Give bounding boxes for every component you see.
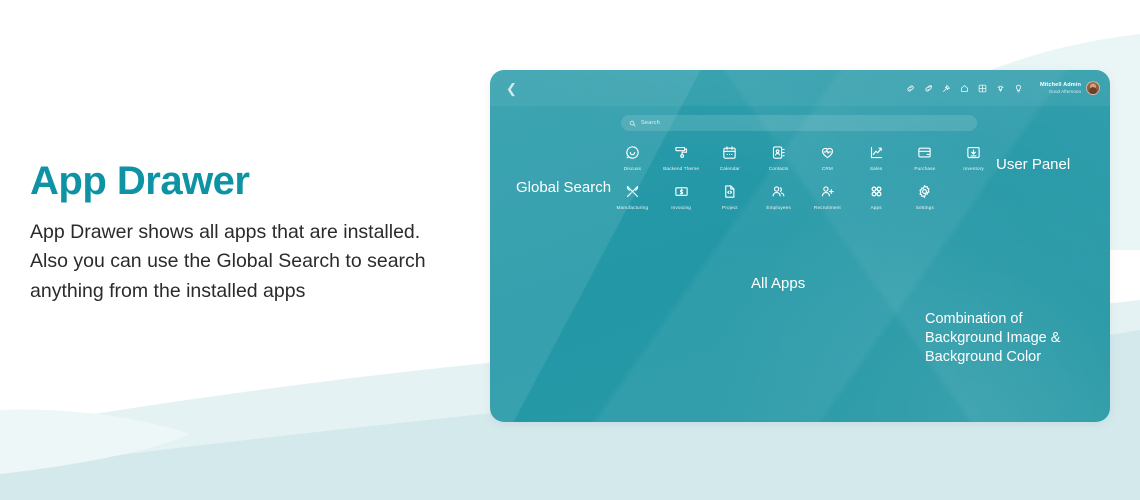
app-label: Calendar bbox=[720, 166, 740, 171]
search-input[interactable]: Search bbox=[621, 115, 977, 131]
heart-pulse-icon bbox=[817, 142, 837, 162]
activity-clock-icon[interactable] bbox=[924, 84, 933, 93]
left-copy-block: App Drawer App Drawer shows all apps tha… bbox=[30, 160, 460, 306]
avatar[interactable] bbox=[1086, 81, 1100, 95]
gear-icon bbox=[915, 181, 935, 201]
people-icon bbox=[769, 181, 789, 201]
app-label: Employees bbox=[766, 205, 791, 210]
annotation-combination-line-3: Background Color bbox=[925, 348, 1060, 367]
four-dots-icon bbox=[866, 181, 886, 201]
annotation-combination: Combination of Background Image & Backgr… bbox=[925, 310, 1060, 367]
app-tile-invoicing[interactable]: Invoicing bbox=[657, 181, 706, 210]
annotation-combination-line-2: Background Image & bbox=[925, 329, 1060, 348]
tools-icon bbox=[622, 181, 642, 201]
search-icon bbox=[629, 120, 636, 127]
search-placeholder: Search bbox=[641, 120, 660, 126]
app-label: Manufacturing bbox=[617, 205, 649, 210]
app-tile-contacts[interactable]: Contacts bbox=[754, 142, 803, 171]
page-title: App Drawer bbox=[30, 160, 460, 202]
chevron-left-icon[interactable]: ❮ bbox=[506, 82, 517, 95]
app-tile-project[interactable]: Project bbox=[706, 181, 755, 210]
panel-topbar: ❮ bbox=[490, 70, 1110, 106]
grid-icon[interactable] bbox=[978, 84, 987, 93]
app-tile-purchase[interactable]: Purchase bbox=[901, 142, 950, 171]
app-label: Sales bbox=[870, 166, 882, 171]
slide-canvas: App Drawer App Drawer shows all apps tha… bbox=[0, 0, 1140, 500]
app-label: Inventory bbox=[963, 166, 984, 171]
annotation-user-panel: User Panel bbox=[996, 155, 1070, 175]
app-label: Purchase bbox=[914, 166, 935, 171]
app-tile-employees[interactable]: Employees bbox=[754, 181, 803, 210]
app-label: Settings bbox=[916, 205, 934, 210]
credit-card-icon bbox=[915, 142, 935, 162]
app-label: Apps bbox=[870, 205, 881, 210]
line-chart-icon bbox=[866, 142, 886, 162]
code-file-icon bbox=[720, 181, 740, 201]
pin-icon[interactable] bbox=[942, 84, 951, 93]
app-tile-recruitment[interactable]: Recruitment bbox=[803, 181, 852, 210]
app-label: Discuss bbox=[624, 166, 641, 171]
app-label: Invoicing bbox=[671, 205, 691, 210]
annotation-all-apps: All Apps bbox=[751, 274, 805, 294]
app-label: Contacts bbox=[769, 166, 789, 171]
annotation-combination-line-1: Combination of bbox=[925, 310, 1060, 329]
box-download-icon bbox=[964, 142, 984, 162]
bulb-icon[interactable] bbox=[1014, 84, 1023, 93]
user-plus-icon bbox=[817, 181, 837, 201]
bug-icon[interactable] bbox=[996, 84, 1005, 93]
app-tile-calendar[interactable]: Calendar bbox=[706, 142, 755, 171]
app-tile-inventory[interactable]: Inventory bbox=[949, 142, 998, 171]
app-label: Backend Theme bbox=[663, 166, 699, 171]
annotation-global-search: Global Search bbox=[516, 178, 611, 198]
app-drawer-panel: ❮ bbox=[490, 70, 1110, 422]
system-icon-tray: Mitchell Admin Good Afternoon bbox=[906, 81, 1100, 95]
app-label: Recruitment bbox=[814, 205, 841, 210]
app-tile-discuss[interactable]: Discuss bbox=[608, 142, 657, 171]
app-tile-crm[interactable]: CRM bbox=[803, 142, 852, 171]
calendar-icon bbox=[720, 142, 740, 162]
app-label: CRM bbox=[822, 166, 833, 171]
address-book-icon bbox=[769, 142, 789, 162]
user-panel[interactable]: Mitchell Admin Good Afternoon bbox=[1040, 81, 1100, 95]
home-icon[interactable] bbox=[960, 84, 969, 93]
app-tile-backend-theme[interactable]: Backend Theme bbox=[657, 142, 706, 171]
app-tile-settings[interactable]: Settings bbox=[901, 181, 950, 210]
chat-bubble-icon bbox=[622, 142, 642, 162]
app-tile-sales[interactable]: Sales bbox=[852, 142, 901, 171]
app-grid: Discuss Backend Theme Calendar bbox=[608, 142, 998, 210]
app-tile-apps[interactable]: Apps bbox=[852, 181, 901, 210]
user-greeting: Good Afternoon bbox=[1040, 89, 1081, 95]
link-icon[interactable] bbox=[906, 84, 915, 93]
page-description: App Drawer shows all apps that are insta… bbox=[30, 218, 460, 306]
paint-roller-icon bbox=[671, 142, 691, 162]
user-name: Mitchell Admin bbox=[1040, 82, 1081, 89]
dollar-bill-icon bbox=[671, 181, 691, 201]
app-tile-manufacturing[interactable]: Manufacturing bbox=[608, 181, 657, 210]
app-label: Project bbox=[722, 205, 738, 210]
